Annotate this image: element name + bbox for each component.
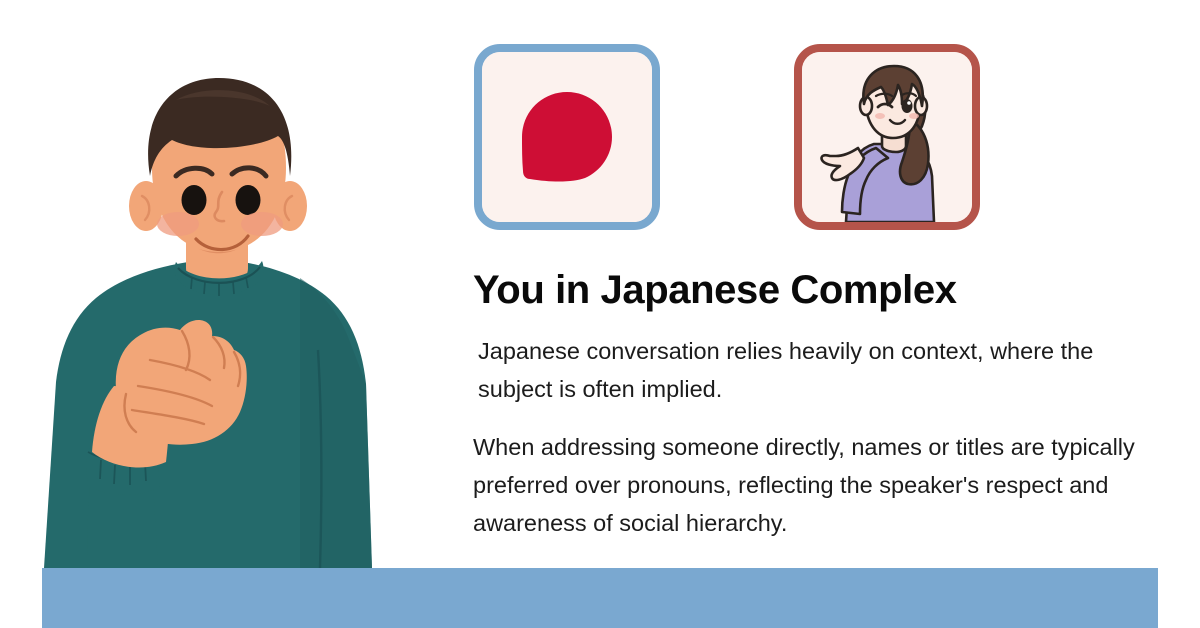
text-column: You in Japanese Complex Japanese convers… — [473, 270, 1153, 542]
slide-canvas: You in Japanese Complex Japanese convers… — [0, 0, 1200, 628]
japan-rising-sun-icon — [482, 52, 652, 222]
japan-flag-card[interactable] — [474, 44, 660, 230]
intro-paragraph: Japanese conversation relies heavily on … — [473, 332, 1153, 408]
man-pointing-illustration — [0, 0, 440, 600]
japanese-woman-card[interactable] — [794, 44, 980, 230]
detail-paragraph: When addressing someone directly, names … — [473, 428, 1153, 542]
page-title: You in Japanese Complex — [473, 270, 1153, 310]
bottom-accent-bar — [42, 568, 1158, 628]
woman-gesturing-icon — [802, 52, 972, 222]
